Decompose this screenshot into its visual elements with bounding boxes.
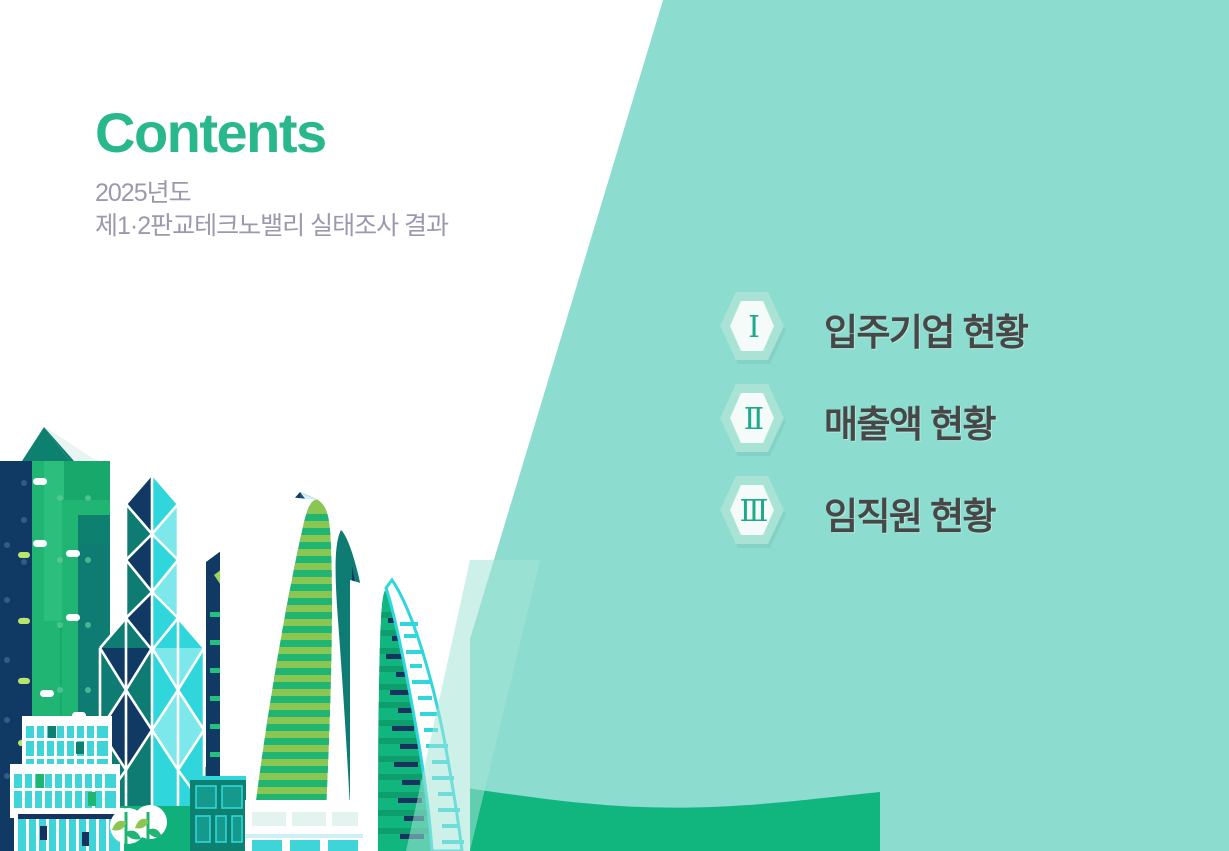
contents-item-label-1: 입주기업 현황 — [824, 302, 1027, 356]
subtitle-survey: 제1·2판교테크노밸리 실태조사 결과 — [95, 210, 525, 243]
building-lowrise-blocks — [10, 716, 124, 851]
hexagon-numeral-3: Ⅲ — [716, 474, 792, 552]
hexagon-badge-2: Ⅱ — [716, 382, 798, 460]
contents-item-3[interactable]: Ⅲ 임직원 현황 — [716, 467, 1186, 559]
contents-list: Ⅰ 입주기업 현황 Ⅱ 매출액 현황 Ⅲ — [716, 283, 1186, 559]
contents-item-label-3: 임직원 현황 — [824, 486, 995, 540]
hexagon-numeral-1: Ⅰ — [716, 290, 792, 368]
contents-item-label-2: 매출액 현황 — [824, 394, 995, 448]
building-lowrise-white — [245, 800, 363, 851]
subtitle-year: 2025년도 — [95, 177, 525, 210]
title-block: Contents 2025년도 제1·2판교테크노밸리 실태조사 결과 — [95, 104, 525, 243]
building-lowrise-teal — [190, 776, 246, 851]
hexagon-numeral-2: Ⅱ — [716, 382, 792, 460]
page-title: Contents — [95, 104, 525, 163]
hexagon-badge-1: Ⅰ — [716, 290, 798, 368]
contents-item-2[interactable]: Ⅱ 매출액 현황 — [716, 375, 1186, 467]
contents-item-1[interactable]: Ⅰ 입주기업 현황 — [716, 283, 1186, 375]
hexagon-badge-3: Ⅲ — [716, 474, 798, 552]
slide-canvas: Contents 2025년도 제1·2판교테크노밸리 실태조사 결과 Ⅰ 입주… — [0, 0, 1229, 851]
